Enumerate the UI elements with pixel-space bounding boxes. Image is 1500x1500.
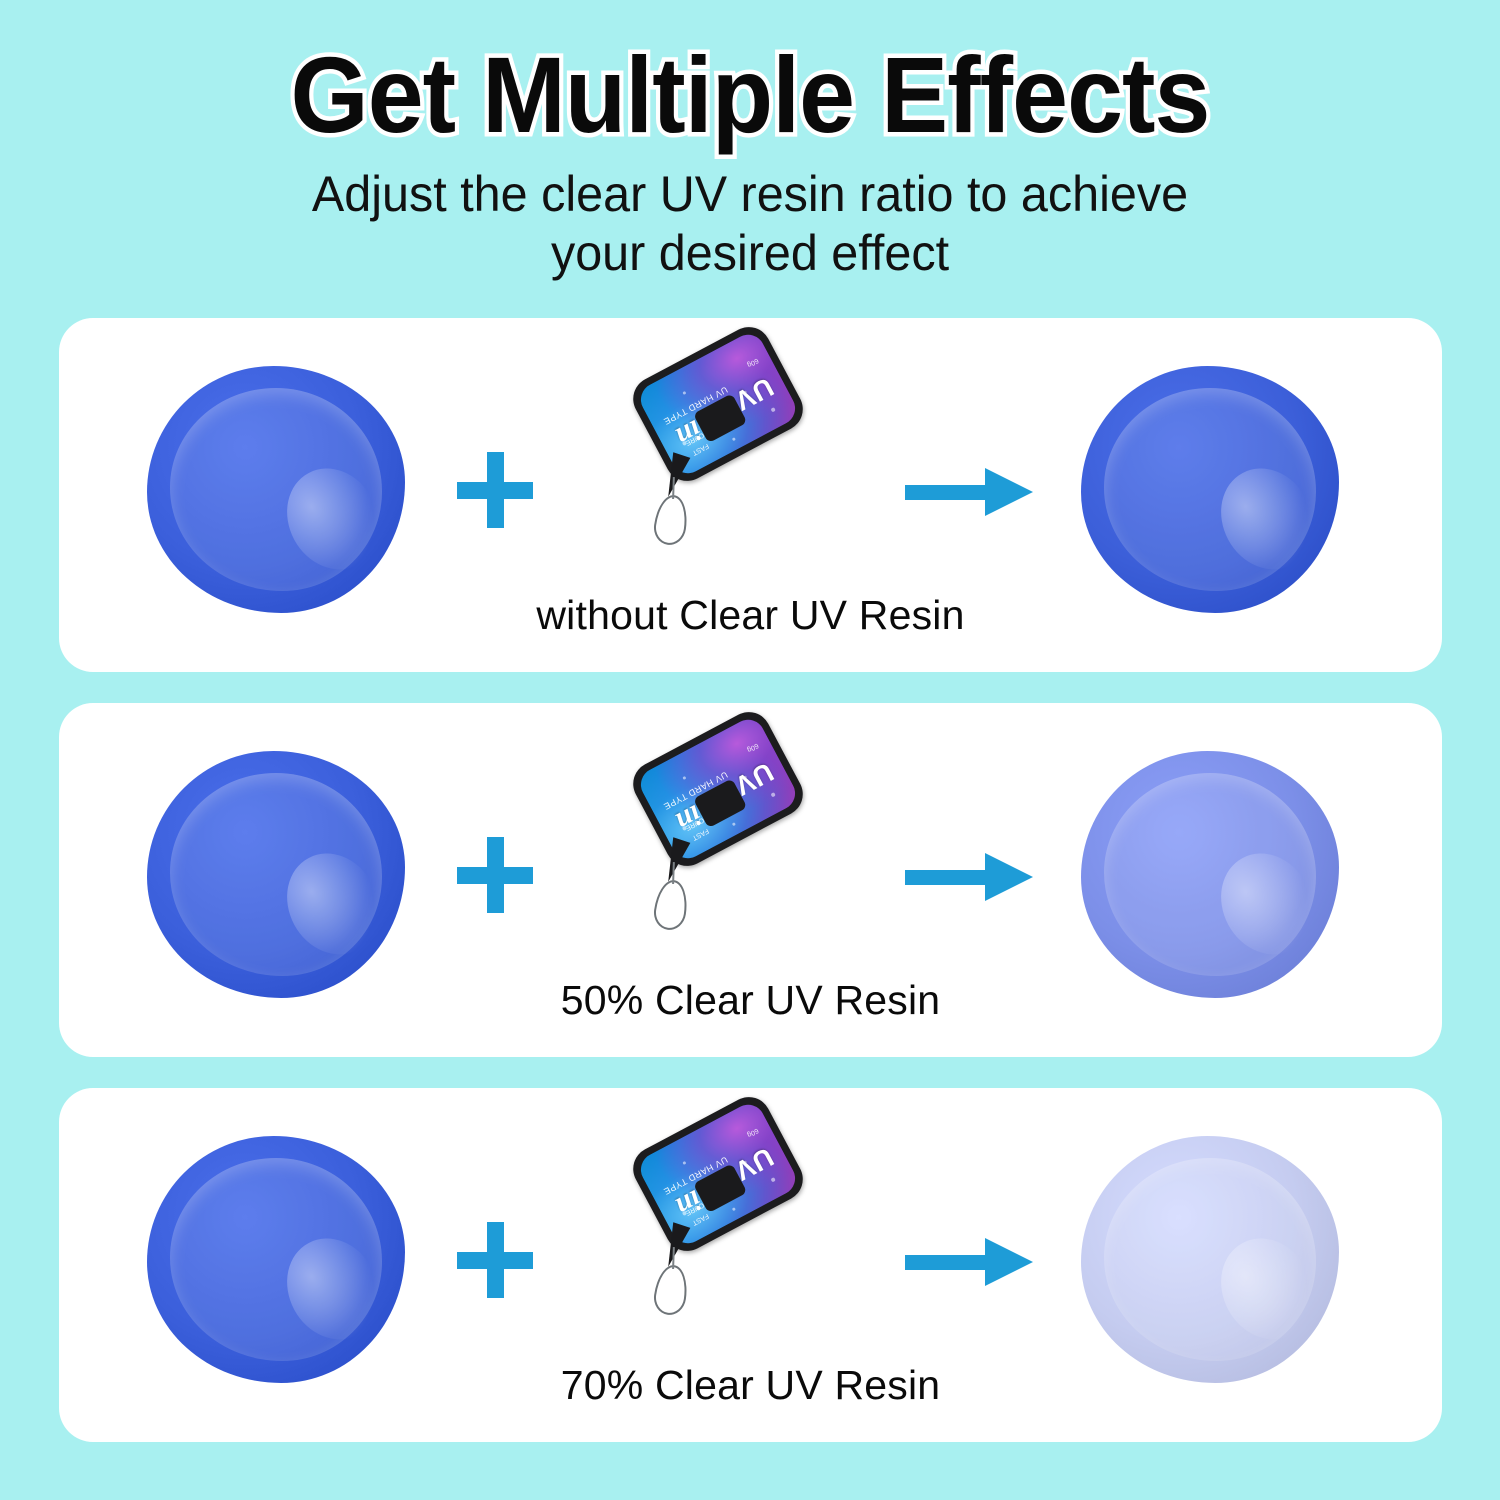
subtitle-line-2: your desired effect <box>23 224 1478 283</box>
comparison-row: UV Resin UV HARD TYPE FAST CURE 60g 50% … <box>59 703 1442 1057</box>
plus-icon <box>457 837 533 913</box>
comparison-row: UV Resin UV HARD TYPE FAST CURE 60g 70% … <box>59 1088 1442 1442</box>
resin-drop-icon <box>652 493 691 547</box>
label-small-c: 60g <box>746 357 760 369</box>
arrow-right-icon <box>905 1238 1033 1286</box>
comparison-row: UV Resin UV HARD TYPE FAST CURE 60g with… <box>59 318 1442 672</box>
label-small-c: 60g <box>746 742 760 754</box>
subtitle-line-1: Adjust the clear UV resin ratio to achie… <box>23 165 1478 224</box>
row-caption: 50% Clear UV Resin <box>59 977 1442 1024</box>
plus-icon <box>457 1222 533 1298</box>
uv-resin-bottle: UV Resin UV HARD TYPE FAST CURE 60g <box>569 326 869 606</box>
result-resin-blob <box>1081 1136 1339 1383</box>
row-caption: 70% Clear UV Resin <box>59 1362 1442 1409</box>
source-resin-blob <box>147 751 405 998</box>
uv-resin-bottle: UV Resin UV HARD TYPE FAST CURE 60g <box>569 711 869 991</box>
page-subtitle: Adjust the clear UV resin ratio to achie… <box>23 151 1478 282</box>
label-small-c: 60g <box>746 1127 760 1139</box>
source-resin-blob <box>147 366 405 613</box>
arrow-right-icon <box>905 468 1033 516</box>
uv-resin-bottle: UV Resin UV HARD TYPE FAST CURE 60g <box>569 1096 869 1376</box>
comparison-cards: UV Resin UV HARD TYPE FAST CURE 60g with… <box>59 318 1442 1473</box>
result-resin-blob <box>1081 366 1339 613</box>
source-resin-blob <box>147 1136 405 1383</box>
result-resin-blob <box>1081 751 1339 998</box>
resin-drop-icon <box>652 878 691 932</box>
arrow-right-icon <box>905 853 1033 901</box>
page-title: Get Multiple Effects <box>53 0 1448 151</box>
row-caption: without Clear UV Resin <box>59 592 1442 639</box>
resin-drop-icon <box>652 1263 691 1317</box>
plus-icon <box>457 452 533 528</box>
header: Get Multiple Effects Adjust the clear UV… <box>0 0 1500 310</box>
